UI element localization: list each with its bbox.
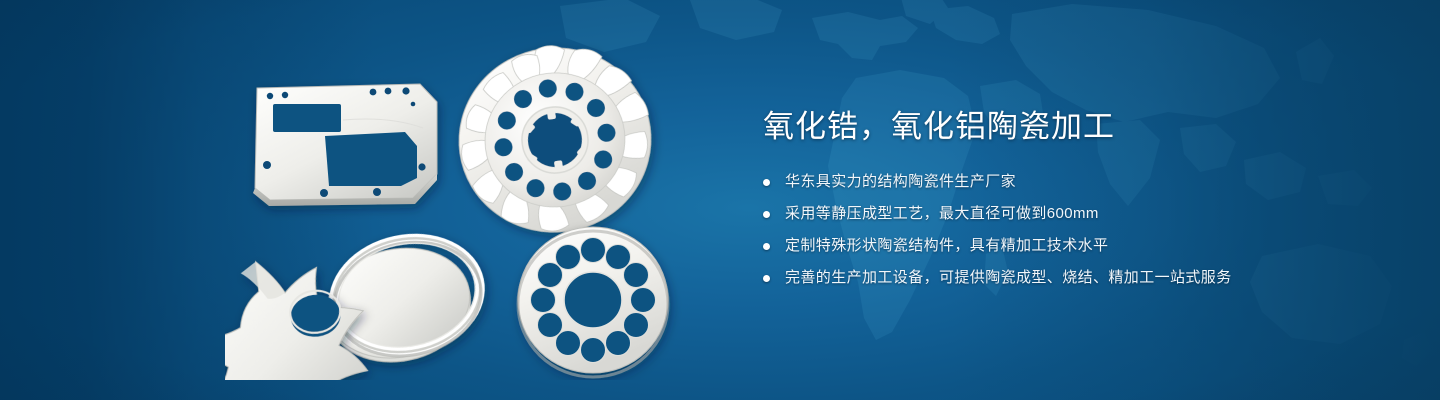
feature-text: 完善的生产加工设备，可提供陶瓷成型、烧结、精加工一站式服务 <box>785 269 1232 286</box>
ceramic-products-image <box>225 28 715 380</box>
perforated-ceramic-disc <box>518 227 668 377</box>
ceramic-impeller-disc <box>447 33 663 244</box>
list-item: 完善的生产加工设备，可提供陶瓷成型、烧结、精加工一站式服务 <box>763 268 1303 288</box>
bullet-dot-icon <box>763 275 770 282</box>
banner-copy: 氧化锆，氧化铝陶瓷加工 华东具实力的结构陶瓷件生产厂家 采用等静压成型工艺，最大… <box>763 106 1303 288</box>
bullet-dot-icon <box>763 211 770 218</box>
hero-banner: 氧化锆，氧化铝陶瓷加工 华东具实力的结构陶瓷件生产厂家 采用等静压成型工艺，最大… <box>0 0 1440 400</box>
list-item: 定制特殊形状陶瓷结构件，具有精加工技术水平 <box>763 236 1303 256</box>
list-item: 华东具实力的结构陶瓷件生产厂家 <box>763 172 1303 192</box>
feature-text: 采用等静压成型工艺，最大直径可做到600mm <box>785 205 1099 222</box>
bullet-dot-icon <box>763 243 770 250</box>
bullet-dot-icon <box>763 179 770 186</box>
feature-text: 华东具实力的结构陶瓷件生产厂家 <box>785 173 1016 190</box>
list-item: 采用等静压成型工艺，最大直径可做到600mm <box>763 204 1303 224</box>
feature-list: 华东具实力的结构陶瓷件生产厂家 采用等静压成型工艺，最大直径可做到600mm 定… <box>763 172 1303 288</box>
machined-ceramic-plate <box>253 84 437 206</box>
banner-headline: 氧化锆，氧化铝陶瓷加工 <box>763 106 1303 148</box>
feature-text: 定制特殊形状陶瓷结构件，具有精加工技术水平 <box>785 237 1108 254</box>
